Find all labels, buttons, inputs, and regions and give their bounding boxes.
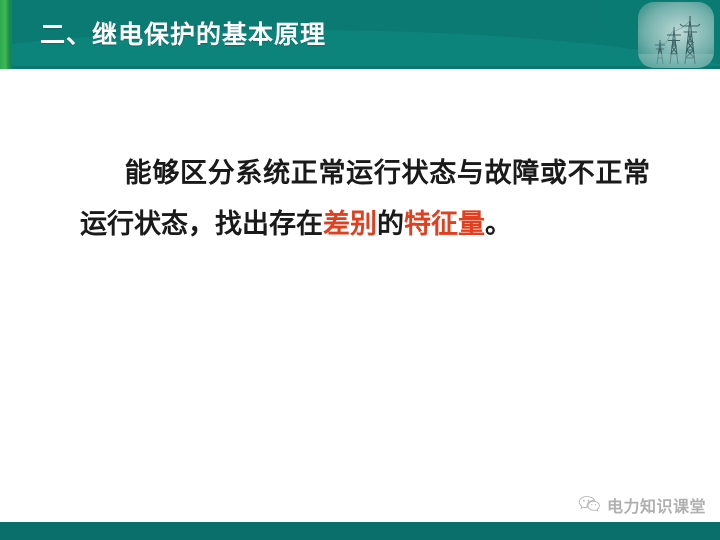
- watermark: 电力知识课堂: [578, 492, 706, 518]
- highlight-characteristic-quantity: 特征量: [404, 209, 485, 240]
- highlight-difference: 差别: [323, 209, 377, 240]
- transmission-tower-photo: [638, 2, 714, 68]
- page-title: 二、继电保护的基本原理: [40, 19, 326, 51]
- body-line-2-mid: 的: [377, 209, 404, 240]
- watermark-label: 电力知识课堂: [607, 493, 706, 517]
- wechat-icon: [578, 495, 600, 515]
- body-line-1: 能够区分系统正常运行状态与故障或不正: [124, 158, 623, 189]
- slide-body-text: 能够区分系统正常运行状态与故障或不正常运行状态，找出存在差别的特征量。: [80, 148, 650, 250]
- header-bottom-divider: [0, 66, 720, 69]
- slide-header-banner: 二、继电保护的基本原理: [0, 0, 720, 69]
- green-accent-bar: [0, 0, 12, 69]
- footer-bar: [0, 522, 720, 540]
- slide-canvas: 二、继电保护的基本原理 能够区分系统正常运行状态与故障或不正常运行状态，找出存在…: [0, 0, 720, 540]
- body-line-2-period: 。: [485, 209, 512, 240]
